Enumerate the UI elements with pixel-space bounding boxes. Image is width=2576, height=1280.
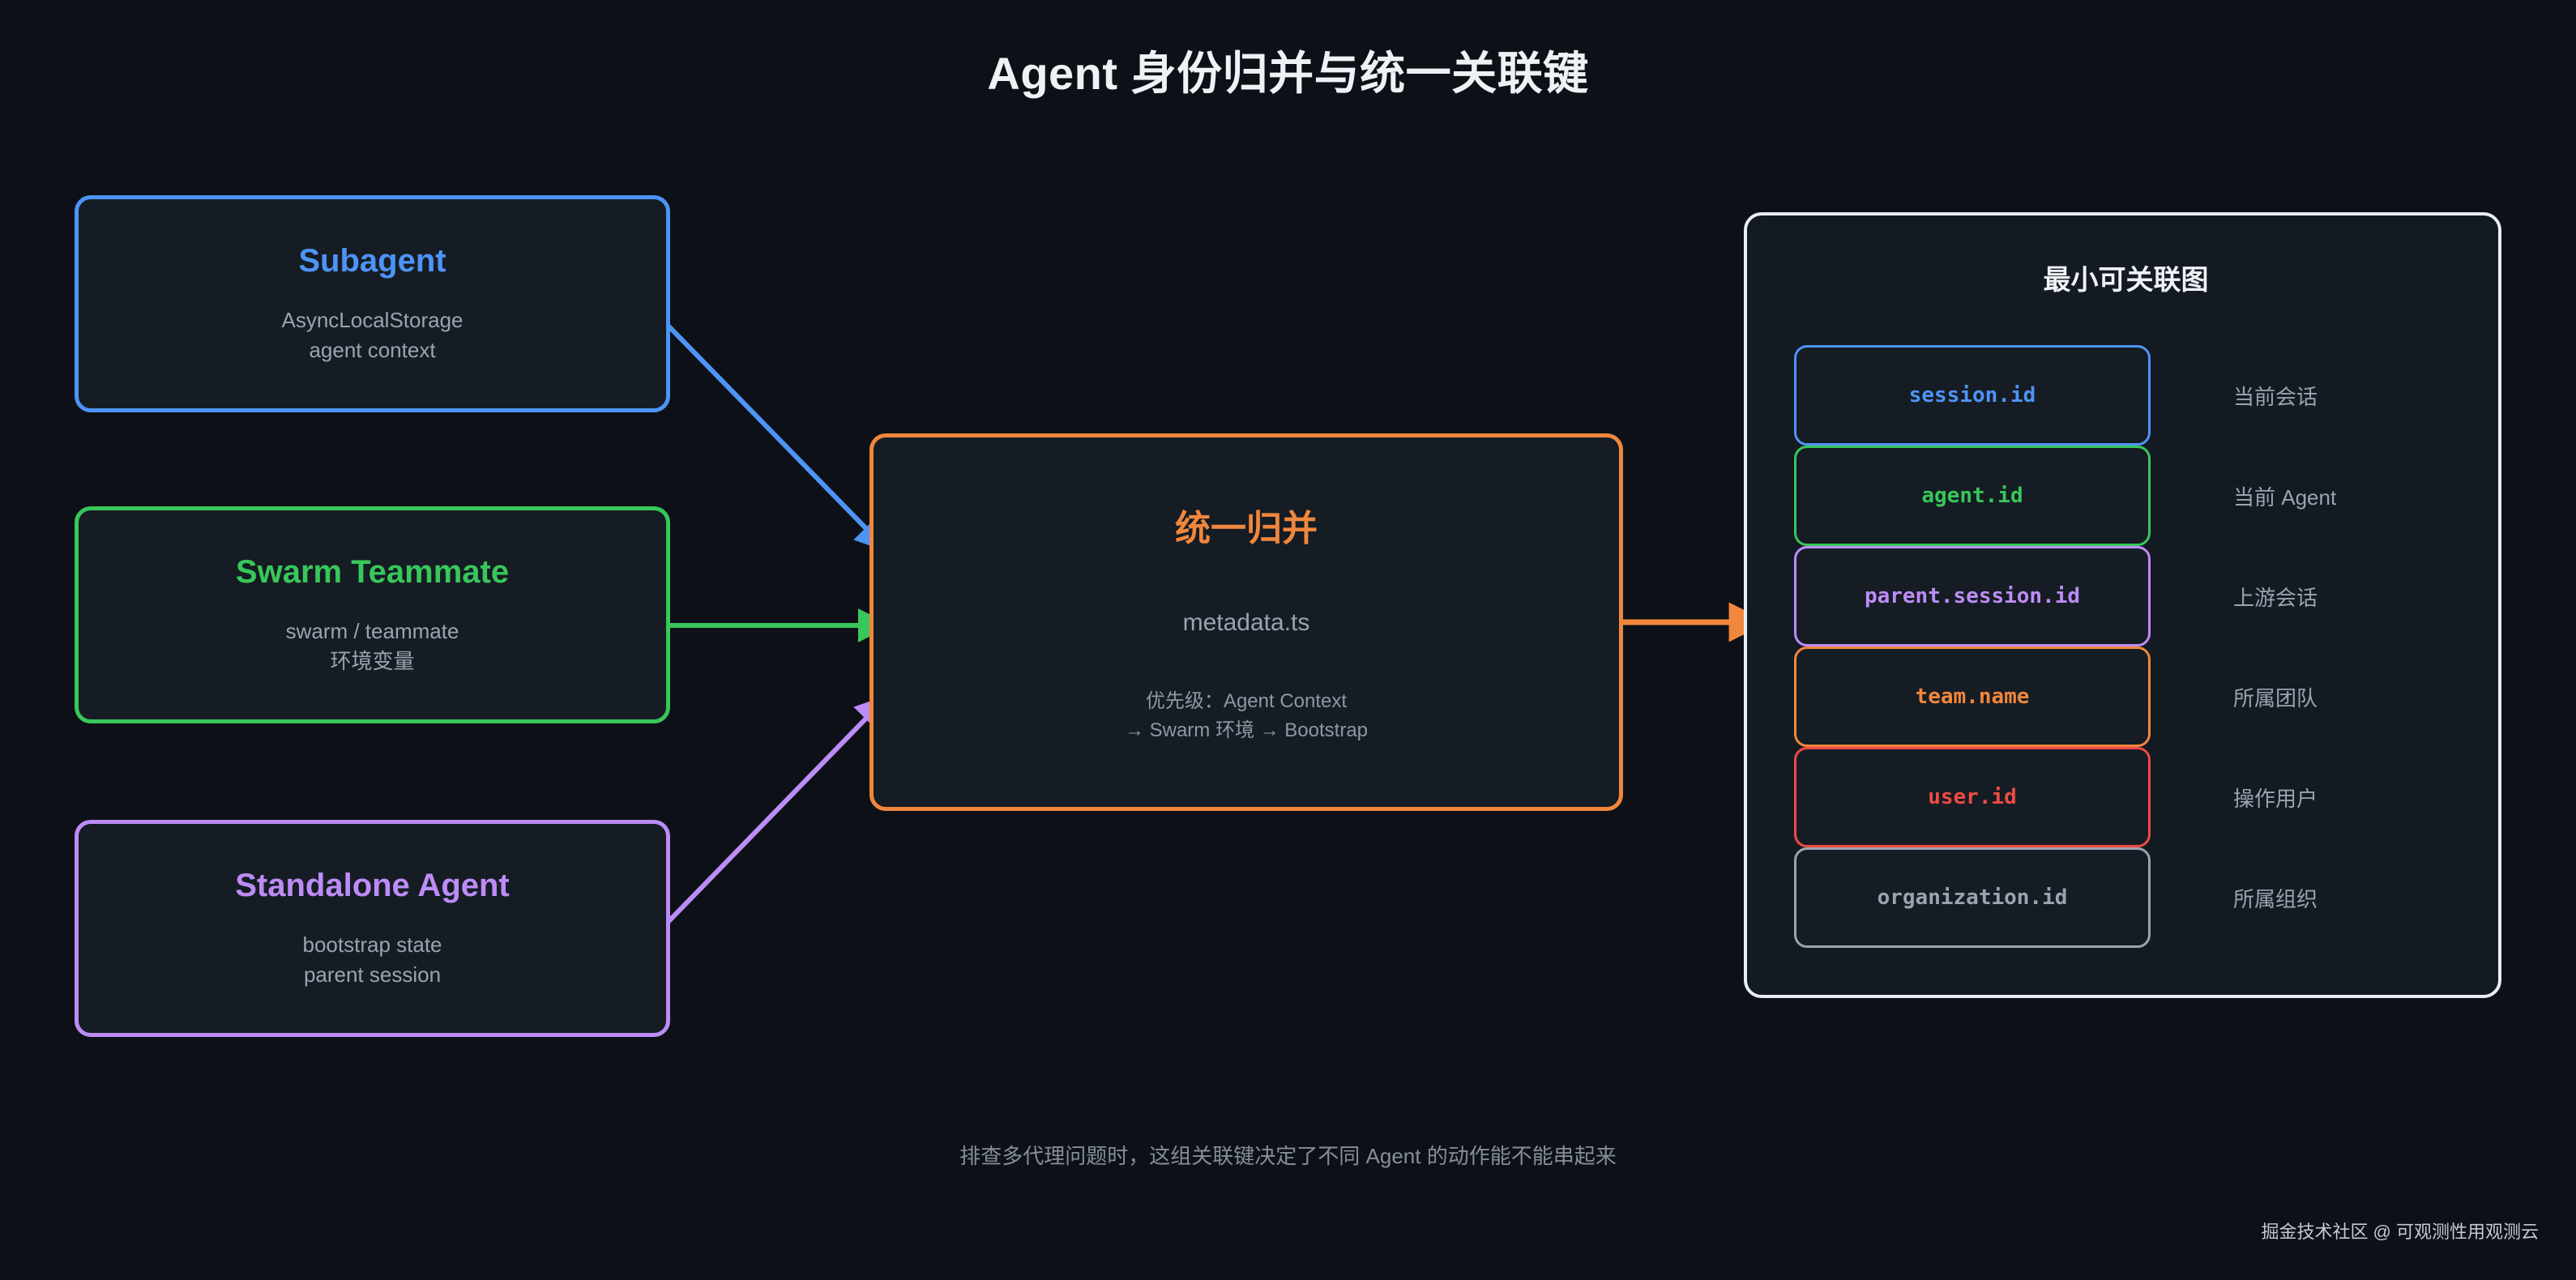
merge-priority-line1: 优先级：Agent Context <box>1146 690 1347 712</box>
footer-note: 排查多代理问题时，这组关联键决定了不同 Agent 的动作能不能串起来 <box>0 1140 2576 1170</box>
source-card-detail-line2: agent context <box>309 338 435 362</box>
connector-standalone-to-merge <box>653 701 883 937</box>
connector-subagent-to-merge <box>653 310 883 546</box>
source-card-title: Standalone Agent <box>235 868 510 904</box>
key-label: 上游会话 <box>2233 546 2318 646</box>
key-box-team-name[interactable]: team.name <box>1794 646 2151 747</box>
source-card-detail-line1: swarm / teammate <box>286 619 459 643</box>
source-card-detail-line1: bootstrap state <box>303 932 442 957</box>
graph-panel-title: 最小可关联图 <box>1747 258 2505 297</box>
key-row: session.id当前会话 <box>1747 345 2505 446</box>
source-card-standalone-agent[interactable]: Standalone Agent bootstrap state parent … <box>75 820 670 1037</box>
merge-box[interactable]: 统一归并 metadata.ts 优先级：Agent Context → Swa… <box>869 433 1623 811</box>
merge-box-title: 统一归并 <box>1175 499 1318 551</box>
graph-panel: 最小可关联图 session.id当前会话agent.id当前 Agentpar… <box>1744 212 2501 998</box>
merge-box-file: metadata.ts <box>1183 609 1310 637</box>
key-row: parent.session.id上游会话 <box>1747 546 2505 646</box>
source-card-detail: swarm / teammate 环境变量 <box>286 617 459 676</box>
key-label: 所属团队 <box>2233 646 2318 747</box>
key-row: organization.id所属组织 <box>1747 847 2505 948</box>
source-card-detail-line1: AsyncLocalStorage <box>281 308 463 332</box>
merge-box-priority: 优先级：Agent Context → Swarm 环境 → Bootstrap <box>1125 687 1368 746</box>
source-card-title: Swarm Teammate <box>236 554 509 591</box>
key-box-session-id[interactable]: session.id <box>1794 345 2151 446</box>
key-row: agent.id当前 Agent <box>1747 446 2505 546</box>
source-card-title: Subagent <box>298 243 446 279</box>
key-box-parent-session-id[interactable]: parent.session.id <box>1794 546 2151 646</box>
key-label: 所属组织 <box>2233 847 2318 948</box>
key-label: 当前 Agent <box>2233 446 2336 546</box>
source-card-detail-line2: parent session <box>304 962 441 987</box>
key-row: user.id操作用户 <box>1747 747 2505 847</box>
source-card-detail-line2: 环境变量 <box>330 649 414 673</box>
source-card-detail: bootstrap state parent session <box>303 930 442 990</box>
diagram-canvas: Agent 身份归并与统一关联键 Subagent AsyncLocalStor… <box>0 0 2576 1280</box>
key-box-organization-id[interactable]: organization.id <box>1794 847 2151 948</box>
watermark: 掘金技术社区 @ 可观测性用观测云 <box>2261 1218 2539 1244</box>
source-card-detail: AsyncLocalStorage agent context <box>281 305 463 365</box>
key-label: 当前会话 <box>2233 345 2318 446</box>
key-box-user-id[interactable]: user.id <box>1794 747 2151 847</box>
source-card-subagent[interactable]: Subagent AsyncLocalStorage agent context <box>75 195 670 412</box>
key-label: 操作用户 <box>2233 747 2318 847</box>
source-card-swarm-teammate[interactable]: Swarm Teammate swarm / teammate 环境变量 <box>75 506 670 723</box>
key-row: team.name所属团队 <box>1747 646 2505 747</box>
key-box-agent-id[interactable]: agent.id <box>1794 446 2151 546</box>
page-title: Agent 身份归并与统一关联键 <box>0 37 2576 103</box>
merge-priority-line2: → Swarm 环境 → Bootstrap <box>1125 719 1368 741</box>
key-list: session.id当前会话agent.id当前 Agentparent.ses… <box>1747 345 2505 948</box>
